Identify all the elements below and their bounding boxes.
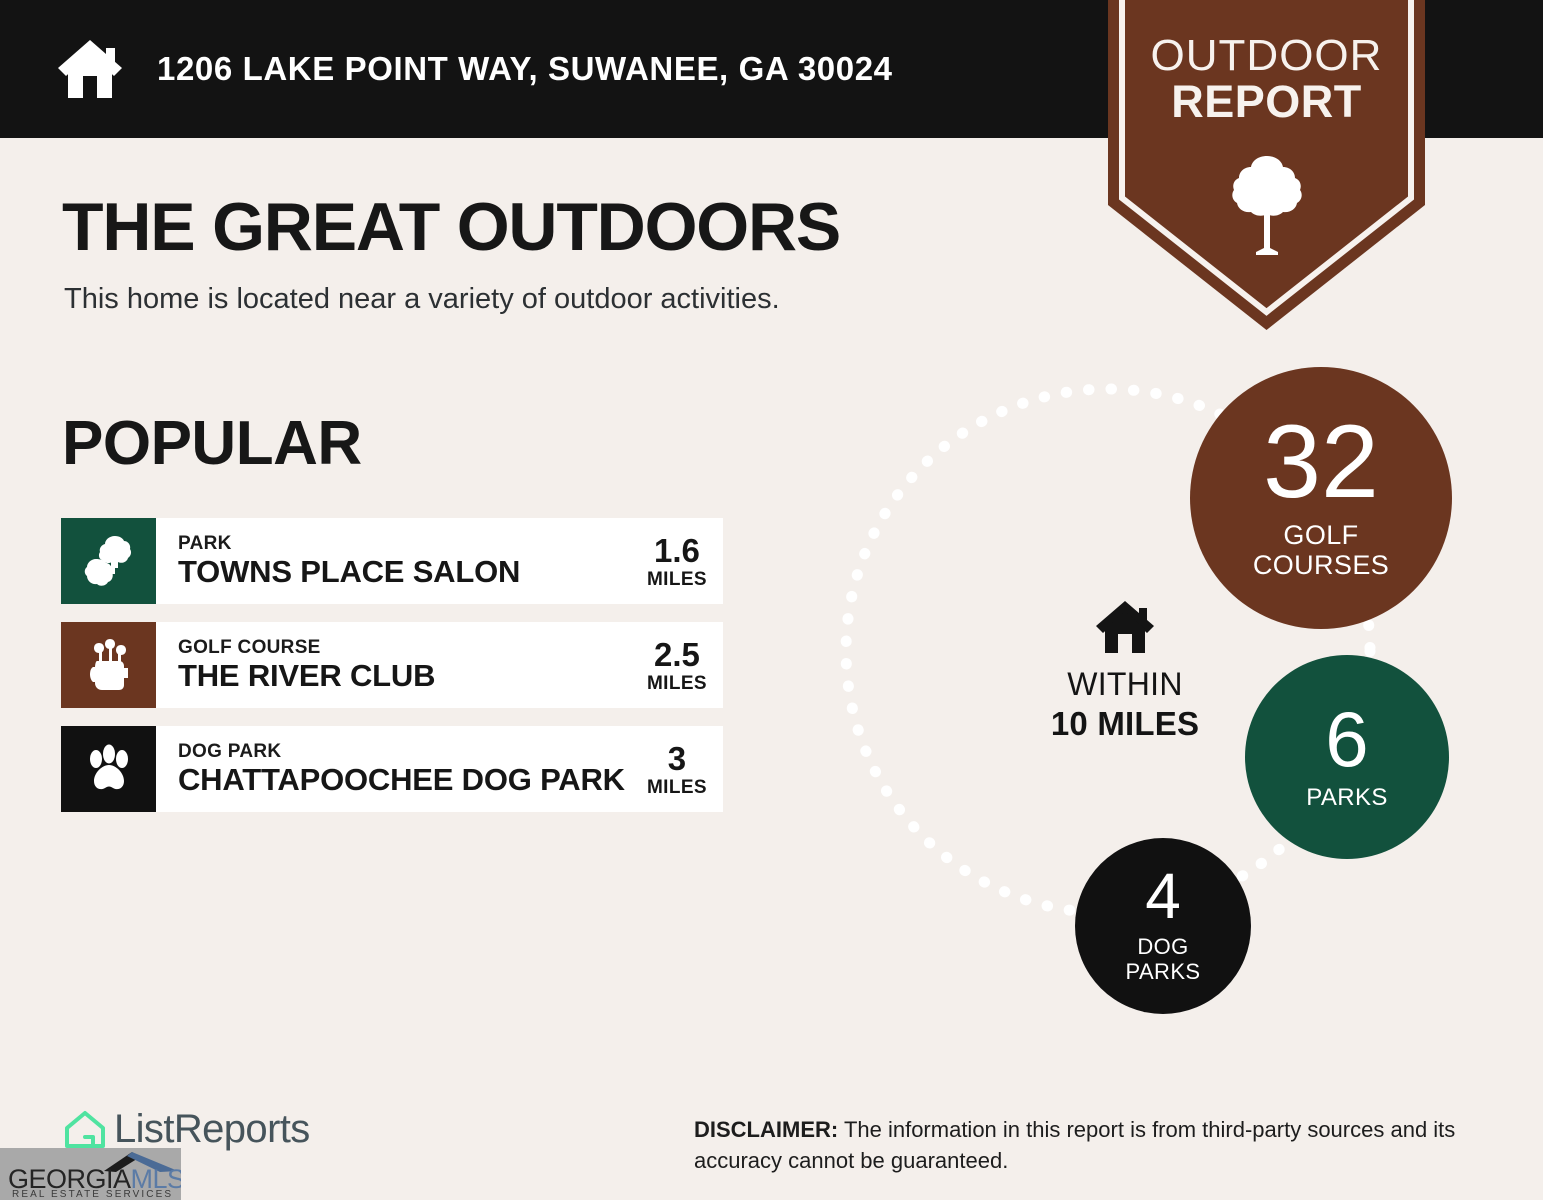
stat-bubble-golf-courses[interactable]: 32 GOLF COURSES: [1190, 367, 1452, 629]
stat-label-line2: PARKS: [1126, 959, 1201, 984]
row-body: PARK TOWNS PLACE SALON 1.6 MILES: [156, 518, 723, 604]
center-line2: 10 MILES: [1015, 705, 1235, 743]
listreports-logo[interactable]: ListReports: [62, 1106, 310, 1152]
mls-tagline: REAL ESTATE SERVICES: [12, 1189, 173, 1200]
disclaimer: DISCLAIMER: The information in this repo…: [694, 1114, 1494, 1176]
trees-icon: [82, 534, 136, 588]
diagram-center-label: WITHIN 10 MILES: [1015, 600, 1235, 743]
row-labels: PARK TOWNS PLACE SALON: [178, 534, 520, 588]
row-distance-value: 3: [647, 742, 707, 775]
row-distance-value: 1.6: [647, 534, 707, 567]
stat-value: 4: [1145, 864, 1181, 928]
row-icon-tile: [61, 622, 156, 708]
row-labels: DOG PARK CHATTAPOOCHEE DOG PARK: [178, 742, 625, 796]
row-distance-unit: MILES: [647, 674, 707, 693]
stat-bubble-dog-parks[interactable]: 4 DOG PARKS: [1075, 838, 1251, 1014]
row-icon-tile: [61, 518, 156, 604]
row-category: DOG PARK: [178, 742, 625, 763]
stat-value: 6: [1325, 700, 1368, 778]
row-distance: 3 MILES: [639, 742, 707, 797]
stat-label-line2: COURSES: [1253, 550, 1389, 580]
disclaimer-label: DISCLAIMER:: [694, 1117, 838, 1142]
georgia-mls-logo: GEORGIAMLS REAL ESTATE SERVICES: [0, 1148, 181, 1200]
stat-label-line1: GOLF: [1283, 520, 1358, 550]
row-distance: 1.6 MILES: [639, 534, 707, 589]
center-line1: WITHIN: [1015, 666, 1235, 703]
row-labels: GOLF COURSE THE RIVER CLUB: [178, 638, 435, 692]
popular-list: PARK TOWNS PLACE SALON 1.6 MILES: [61, 518, 723, 830]
row-distance: 2.5 MILES: [639, 638, 707, 693]
stat-label: GOLF COURSES: [1253, 520, 1389, 580]
row-body: GOLF COURSE THE RIVER CLUB 2.5 MILES: [156, 622, 723, 708]
outdoor-report-badge: OUTDOOR REPORT: [1108, 0, 1425, 330]
row-distance-value: 2.5: [647, 638, 707, 671]
property-address: 1206 LAKE POINT WAY, SUWANEE, GA 30024: [157, 50, 893, 88]
row-body: DOG PARK CHATTAPOOCHEE DOG PARK 3 MILES: [156, 726, 723, 812]
outdoor-report-page: 1206 LAKE POINT WAY, SUWANEE, GA 30024 O…: [0, 0, 1543, 1200]
row-icon-tile: [61, 726, 156, 812]
stat-value: 32: [1263, 410, 1379, 514]
golf-bag-icon: [83, 637, 135, 693]
house-outline-icon: [62, 1106, 108, 1152]
within-10-miles-diagram: 32 GOLF COURSES 6 PARKS 4 DOG PARKS WITH…: [820, 365, 1500, 1035]
list-item[interactable]: DOG PARK CHATTAPOOCHEE DOG PARK 3 MILES: [61, 726, 723, 812]
listreports-wordmark: ListReports: [114, 1107, 310, 1152]
section-heading-popular: POPULAR: [62, 408, 362, 479]
stat-label-line1: DOG: [1137, 934, 1188, 959]
stat-label: DOG PARKS: [1126, 934, 1201, 985]
page-subtitle: This home is located near a variety of o…: [64, 283, 780, 316]
home-icon: [1095, 600, 1155, 654]
row-name: TOWNS PLACE SALON: [178, 555, 520, 588]
row-distance-unit: MILES: [647, 570, 707, 589]
row-distance-unit: MILES: [647, 778, 707, 797]
stat-bubble-parks[interactable]: 6 PARKS: [1245, 655, 1449, 859]
page-title: THE GREAT OUTDOORS: [62, 188, 840, 266]
stat-label: PARKS: [1306, 786, 1388, 810]
row-name: THE RIVER CLUB: [178, 659, 435, 692]
tree-icon: [1226, 152, 1308, 256]
row-category: PARK: [178, 534, 520, 555]
row-category: GOLF COURSE: [178, 638, 435, 659]
list-item[interactable]: PARK TOWNS PLACE SALON 1.6 MILES: [61, 518, 723, 604]
row-name: CHATTAPOOCHEE DOG PARK: [178, 763, 625, 796]
list-item[interactable]: GOLF COURSE THE RIVER CLUB 2.5 MILES: [61, 622, 723, 708]
paw-icon: [83, 743, 135, 795]
home-icon: [56, 38, 124, 100]
